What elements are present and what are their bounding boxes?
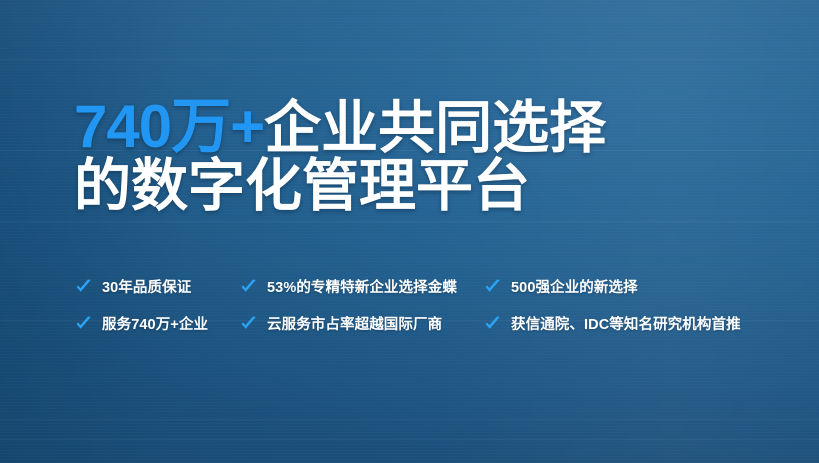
feature-list: 30年品质保证 53%的专精特新企业选择金蝶 xyxy=(74,268,774,342)
feature-row: 服务740万+企业 云服务市占率超越国际厂商 xyxy=(74,305,774,342)
headline: 740万+企业共同选择 的数字化管理平台 xyxy=(74,96,754,215)
feature-item: 30年品质保证 xyxy=(74,276,239,297)
feature-item: 获信通院、IDC等知名研究机构首推 xyxy=(483,313,741,334)
headline-metric: 740万+ xyxy=(74,93,264,160)
feature-label: 500强企业的新选择 xyxy=(511,276,638,297)
feature-label: 服务740万+企业 xyxy=(102,313,208,334)
headline-line-1-text: 企业共同选择 xyxy=(264,96,606,160)
check-icon xyxy=(239,277,258,296)
feature-label: 云服务市占率超越国际厂商 xyxy=(267,313,442,334)
feature-item: 500强企业的新选择 xyxy=(483,276,638,297)
headline-line-1: 740万+企业共同选择 xyxy=(74,96,754,157)
check-icon xyxy=(483,314,502,333)
feature-item: 云服务市占率超越国际厂商 xyxy=(239,313,483,334)
check-icon xyxy=(74,277,93,296)
feature-label: 获信通院、IDC等知名研究机构首推 xyxy=(511,313,741,334)
check-icon xyxy=(483,277,502,296)
check-icon xyxy=(74,314,93,333)
promo-banner: 740万+企业共同选择 的数字化管理平台 30年品质保证 xyxy=(0,0,819,463)
feature-row: 30年品质保证 53%的专精特新企业选择金蝶 xyxy=(74,268,774,305)
headline-line-2: 的数字化管理平台 xyxy=(74,157,754,215)
feature-label: 30年品质保证 xyxy=(102,276,191,297)
feature-label: 53%的专精特新企业选择金蝶 xyxy=(267,276,457,297)
feature-item: 53%的专精特新企业选择金蝶 xyxy=(239,276,483,297)
check-icon xyxy=(239,314,258,333)
feature-item: 服务740万+企业 xyxy=(74,313,239,334)
